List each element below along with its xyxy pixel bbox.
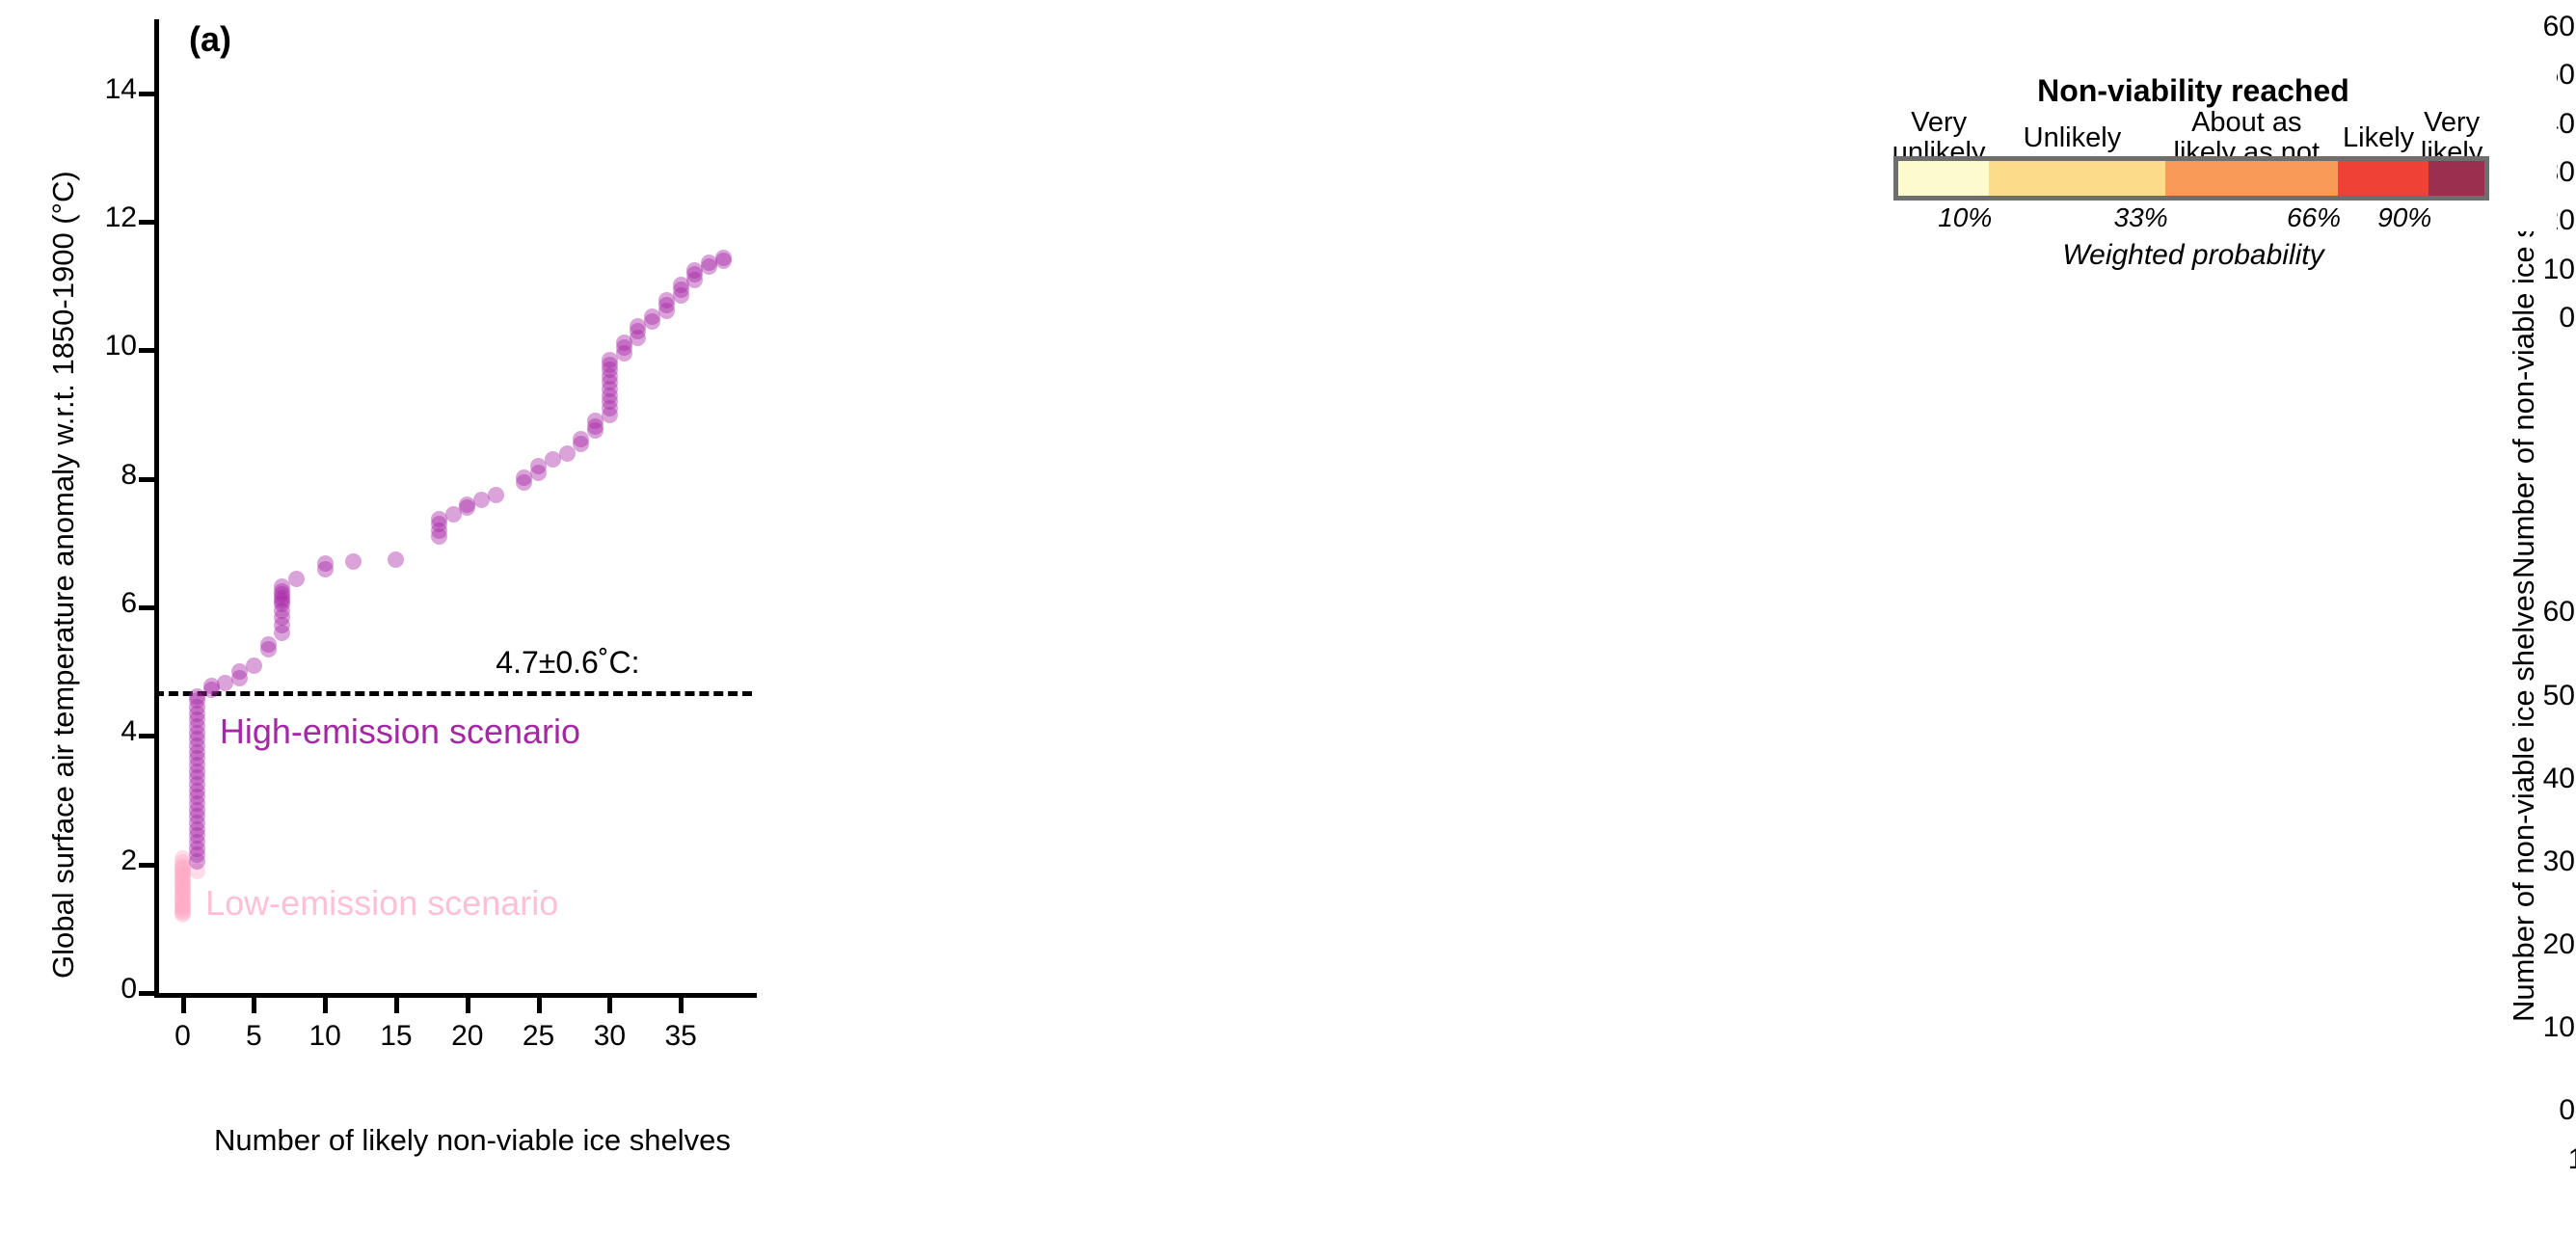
scatter-point bbox=[345, 553, 362, 570]
legend-percent-90: 90% bbox=[2347, 202, 2462, 233]
panel-a-plot-area bbox=[154, 29, 752, 993]
scatter-point bbox=[715, 250, 732, 266]
panel-a-x-tick-label: 30 bbox=[571, 1020, 648, 1053]
panel-a-x-tick-label: 0 bbox=[145, 1020, 222, 1053]
panel-a-x-tick bbox=[181, 998, 186, 1013]
panel-a-x-tick-label: 10 bbox=[286, 1020, 363, 1053]
panel-a-y-tick-label: 12 bbox=[87, 201, 137, 234]
panel-a-y-tick-label: 4 bbox=[87, 715, 137, 748]
scatter-point bbox=[260, 636, 277, 653]
legend-colorbar-segment-4 bbox=[2338, 161, 2428, 196]
panel-a-y-tick bbox=[139, 348, 154, 353]
panel-a-y-tick bbox=[139, 220, 154, 225]
panel-a-y-tick bbox=[139, 863, 154, 868]
panel-a-x-tick-label: 35 bbox=[642, 1020, 719, 1053]
panel_c-y-tick-label: 10 bbox=[2511, 1011, 2575, 1044]
panel-a-x-tick bbox=[323, 998, 328, 1013]
legend-title: Non-viability reached bbox=[1830, 73, 2557, 109]
legend-category-line: Very bbox=[2346, 108, 2558, 138]
figure-root: Global surface air temperature anomaly w… bbox=[0, 0, 2576, 1234]
panel-a-y-tick bbox=[139, 92, 154, 96]
panel-a-y-tick-label: 8 bbox=[87, 459, 137, 492]
panel-a-x-tick bbox=[679, 998, 684, 1013]
panel-a-y-tick-label: 6 bbox=[87, 587, 137, 620]
series-label-high-emission: High-emission scenario bbox=[220, 711, 580, 752]
legend-percent-33: 33% bbox=[2083, 202, 2199, 233]
panel-a-x-tick bbox=[252, 998, 256, 1013]
legend-colorbar-segment-3 bbox=[2165, 161, 2338, 196]
threshold-dashed-line bbox=[154, 691, 752, 696]
legend-colorbar-segment-5 bbox=[2428, 161, 2484, 196]
panel_c-y-tick-label: 40 bbox=[2511, 763, 2575, 795]
panel-a-y-axis-title: Global surface air temperature anomaly w… bbox=[46, 171, 81, 979]
legend-colorbar-segment-1 bbox=[1898, 161, 1989, 196]
series-label-low-emission: Low-emission scenario bbox=[205, 883, 558, 924]
panel-a-x-tick-label: 25 bbox=[500, 1020, 577, 1053]
panel-a-y-tick bbox=[139, 734, 154, 738]
threshold-annotation-label: 4.7±0.6˚C: bbox=[496, 645, 639, 681]
panel_c-y-tick-label: 20 bbox=[2511, 928, 2575, 961]
panel-a-scatter: Global surface air temperature anomaly w… bbox=[0, 0, 1244, 1234]
panel-a-x-tick bbox=[607, 998, 612, 1013]
panel-a-x-axis-title: Number of likely non-viable ice shelves bbox=[214, 1123, 731, 1158]
panel-a-y-tick bbox=[139, 605, 154, 610]
panel-a-y-tick-label: 10 bbox=[87, 330, 137, 362]
panel-a-x-tick-label: 20 bbox=[429, 1020, 506, 1053]
scatter-point bbox=[246, 657, 262, 674]
panel_c-y-tick-label: 50 bbox=[2511, 680, 2575, 712]
panel_c-y-tick-label: 60 bbox=[2511, 596, 2575, 629]
panel-a-x-tick bbox=[537, 998, 542, 1013]
scatter-point bbox=[388, 551, 404, 568]
scatter-point bbox=[288, 571, 305, 587]
panel-a-y-tick bbox=[139, 477, 154, 482]
panel-a-y-tick bbox=[139, 991, 154, 996]
panel-a-y-tick-label: 2 bbox=[87, 845, 137, 877]
legend-percent-10: 10% bbox=[1907, 202, 2023, 233]
legend-colorbar bbox=[1893, 156, 2489, 201]
panel_c-y-tick-label: 0 bbox=[2511, 1094, 2575, 1127]
panel-a-y-tick-label: 0 bbox=[87, 973, 137, 1006]
panel_c-y-tick-label: 30 bbox=[2511, 845, 2575, 878]
panel-a-x-tick bbox=[394, 998, 399, 1013]
legend-x-axis-title: Weighted probability bbox=[1830, 239, 2557, 272]
legend-box: Non-viability reached VeryunlikelyUnlike… bbox=[1830, 48, 2557, 231]
legend-colorbar-segment-2 bbox=[1989, 161, 2164, 196]
scatter-point bbox=[488, 487, 504, 503]
panel-a-x-tick bbox=[466, 998, 470, 1013]
panel-a-x-tick-label: 5 bbox=[215, 1020, 292, 1053]
panel-c-x-tick-label: 1850 bbox=[2542, 1143, 2576, 1176]
panel-a-x-axis-spine bbox=[154, 993, 757, 998]
panel-a-x-tick-label: 15 bbox=[358, 1020, 435, 1053]
scatter-point bbox=[317, 555, 334, 572]
panel-a-y-tick-label: 14 bbox=[87, 73, 137, 106]
